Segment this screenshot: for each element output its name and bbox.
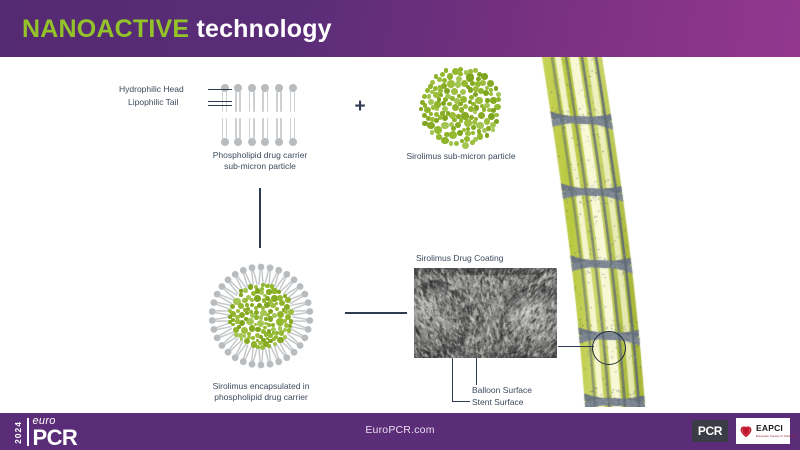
drug-molecule-dot: [260, 345, 265, 350]
title-rest: technology: [189, 15, 331, 43]
drug-molecule-dot: [271, 323, 275, 327]
coated-stent-illustration: [520, 57, 650, 407]
drug-molecule-dot: [239, 289, 243, 293]
drug-molecule-dot: [283, 328, 287, 332]
leader-line-tail-a: [208, 101, 232, 102]
drug-molecule-dot: [430, 117, 434, 121]
drug-molecule-dot: [473, 68, 478, 73]
drug-molecule-dot: [255, 327, 261, 333]
drug-molecule-dot: [420, 100, 425, 105]
drug-molecule-dot: [264, 322, 268, 326]
drug-molecule-dot: [283, 335, 287, 339]
drug-molecule-dot: [243, 288, 247, 292]
drug-molecule-dot: [422, 113, 427, 118]
drug-molecule-dot: [283, 294, 287, 298]
phospholipid-molecule: [246, 84, 257, 146]
drug-molecule-dot: [470, 140, 475, 145]
drug-molecule-dot: [259, 315, 263, 319]
caption-sirolimus-particle: Sirolimus sub-micron particle: [388, 151, 534, 162]
drug-molecule-dot: [263, 326, 267, 330]
drug-molecule-dot: [490, 122, 496, 128]
drug-molecule-dot: [496, 97, 501, 102]
drug-molecule-dot: [429, 112, 433, 116]
phospholipid-molecule: [219, 84, 230, 146]
caption-encapsulated: Sirolimus encapsulated in phospholipid d…: [188, 381, 334, 403]
drug-molecule-dot: [430, 130, 435, 135]
drug-molecule-dot: [288, 324, 292, 328]
drug-molecule-dot: [447, 73, 454, 80]
drug-molecule-dot: [428, 84, 433, 89]
sirolimus-sub-micron-particle: [420, 66, 502, 148]
drug-molecule-dot: [458, 72, 462, 76]
drug-molecule-dot: [459, 107, 465, 113]
drug-molecule-dot: [254, 295, 261, 302]
slide-header-bar: NANOACTIVE technology: [0, 0, 800, 57]
phospholipid-molecule: [273, 84, 284, 146]
footer-url[interactable]: EuroPCR.com: [0, 424, 800, 436]
drug-molecule-dot: [248, 284, 253, 289]
stent-zoom-callout-circle: [592, 331, 626, 365]
drug-molecule-dot: [485, 98, 490, 103]
drug-molecule-dot: [277, 290, 281, 294]
drug-molecule-dot: [489, 88, 493, 92]
drug-molecule-dot: [261, 306, 265, 310]
drug-molecule-dot: [473, 86, 479, 92]
drug-molecule-dot: [267, 344, 271, 348]
drug-molecule-dot: [442, 78, 447, 83]
drug-molecule-dot: [264, 302, 270, 308]
drug-molecule-dot: [475, 97, 483, 105]
connector-horizontal: [345, 312, 407, 314]
drug-molecule-dot: [482, 128, 487, 133]
pcr-badge-logo: PCR: [692, 420, 728, 442]
caption-phospholipid-line1: Phospholipid drug carrier: [190, 150, 330, 161]
drug-molecule-dot: [270, 284, 274, 288]
drug-molecule-dot: [481, 73, 488, 80]
phospholipid-molecule: [287, 84, 298, 146]
drug-molecule-dot: [231, 323, 235, 327]
drug-molecule-dot: [464, 136, 470, 142]
label-sirolimus-drug-coating: Sirolimus Drug Coating: [416, 253, 503, 264]
heart-icon: [739, 424, 753, 438]
drug-molecule-dot: [247, 332, 251, 336]
caption-encapsulated-line2: phospholipid drug carrier: [188, 392, 334, 403]
drug-molecule-dot: [480, 80, 486, 86]
drug-molecule-dot: [237, 325, 241, 329]
drug-molecule-dot: [239, 293, 243, 297]
drug-molecule-dot: [489, 92, 493, 96]
callout-connector-line: [558, 346, 594, 347]
drug-molecule-dot: [441, 122, 449, 130]
drug-molecule-dot: [460, 139, 464, 143]
drug-molecule-dot: [442, 115, 448, 121]
leader-line-balloon-surface: [476, 358, 477, 385]
drug-molecule-dot: [419, 107, 423, 111]
drug-molecule-dot: [484, 103, 490, 109]
slide-nanoactive-technology: NANOACTIVE technology Hydrophilic Head L…: [0, 0, 800, 450]
drug-molecule-dot: [441, 137, 448, 144]
drug-molecule-dot: [466, 85, 470, 89]
drug-molecule-dot: [260, 287, 264, 291]
eapci-name: EAPCI: [756, 424, 798, 433]
drug-molecule-dot: [451, 126, 456, 131]
label-lipophilic-tail: Lipophilic Tail: [128, 97, 178, 108]
drug-molecule-dot: [477, 129, 482, 134]
drug-molecule-dot: [473, 110, 477, 114]
drug-molecule-dot: [273, 342, 277, 346]
drug-molecule-dot: [264, 332, 268, 336]
drug-molecule-dot: [477, 133, 484, 140]
phospholipid-molecule: [233, 84, 244, 146]
connector-vertical: [259, 188, 261, 248]
drug-molecule-dot: [458, 67, 463, 72]
drug-molecule-dot: [440, 72, 445, 77]
drug-molecule-dot: [462, 142, 469, 149]
drug-molecule-dot: [275, 302, 279, 306]
drug-molecule-dot: [279, 300, 285, 306]
drug-molecule-dot: [437, 97, 442, 102]
eapci-subtitle: European Society of Cardiology: [756, 434, 798, 438]
leader-line-head: [208, 89, 232, 90]
drug-molecule-dot: [431, 105, 436, 110]
drug-molecule-dot: [240, 337, 244, 341]
drug-molecule-dot: [255, 333, 260, 338]
drug-molecule-dot: [272, 313, 277, 318]
label-stent-surface: Stent Surface: [472, 397, 524, 408]
drug-molecule-dot: [255, 288, 260, 293]
drug-molecule-dot: [278, 326, 282, 330]
caption-encapsulated-line1: Sirolimus encapsulated in: [188, 381, 334, 392]
drug-molecule-dot: [283, 319, 287, 323]
label-hydrophilic-head: Hydrophilic Head: [119, 84, 184, 95]
drug-molecule-dot: [449, 131, 457, 139]
plus-sign-icon: +: [350, 97, 370, 117]
drug-molecule-dot: [234, 333, 238, 337]
drug-molecule-dot: [272, 337, 276, 341]
drug-molecule-dot: [454, 141, 459, 146]
drug-molecule-dot: [245, 311, 249, 315]
leader-line-tail-b: [208, 105, 232, 106]
leader-line-stent-surface-v: [452, 358, 453, 402]
drug-molecule-dot: [246, 295, 251, 300]
drug-molecule-dot: [455, 81, 461, 87]
drug-molecule-dot: [228, 309, 232, 313]
drug-molecule-dot: [228, 315, 232, 319]
drug-molecule-dot: [471, 125, 476, 130]
caption-phospholipid-carrier: Phospholipid drug carrier sub-micron par…: [190, 150, 330, 172]
drug-molecule-dot: [437, 77, 442, 82]
drug-molecule-dot: [427, 94, 432, 99]
page-title: NANOACTIVE technology: [22, 14, 332, 44]
drug-molecule-dot: [468, 69, 472, 73]
drug-molecule-dot: [266, 289, 271, 294]
sirolimus-core: [228, 283, 294, 349]
drug-molecule-dot: [254, 323, 258, 327]
phospholipid-bilayer-illustration: [219, 84, 301, 146]
drug-molecule-dot: [494, 113, 499, 118]
drug-molecule-dot: [245, 303, 249, 307]
eapci-logo: EAPCI European Society of Cardiology: [736, 418, 790, 444]
drug-molecule-dot: [449, 141, 454, 146]
drug-molecule-dot: [460, 89, 466, 95]
drug-molecule-dot: [471, 131, 476, 136]
drug-molecule-dot: [422, 121, 427, 126]
drug-molecule-dot: [289, 319, 293, 323]
drug-molecule-dot: [438, 88, 442, 92]
drug-molecule-dot: [447, 80, 454, 87]
drug-molecule-dot: [265, 284, 270, 289]
drug-molecule-dot: [491, 128, 495, 132]
drug-molecule-dot: [285, 297, 291, 303]
caption-phospholipid-line2: sub-micron particle: [190, 161, 330, 172]
phospholipid-molecule: [260, 84, 271, 146]
drug-molecule-dot: [446, 111, 450, 115]
drug-molecule-dot: [494, 86, 499, 91]
drug-molecule-dot: [445, 94, 450, 99]
leader-line-stent-surface-h: [452, 401, 470, 402]
drug-molecule-dot: [485, 133, 490, 138]
drug-molecule-dot: [287, 328, 291, 332]
drug-molecule-dot: [235, 319, 239, 323]
drug-molecule-dot: [471, 102, 475, 106]
encapsulated-sirolimus-illustration: [201, 256, 321, 376]
drug-molecule-dot: [244, 317, 248, 321]
drug-molecule-dot: [438, 115, 443, 120]
pcr-badge-text: PCR: [698, 424, 722, 438]
drug-molecule-dot: [458, 102, 463, 107]
drug-molecule-dot: [262, 298, 267, 303]
drug-molecule-dot: [459, 118, 463, 122]
title-highlight: NANOACTIVE: [22, 15, 189, 43]
drug-molecule-dot: [430, 90, 435, 95]
drug-molecule-dot: [438, 85, 442, 89]
drug-molecule-dot: [428, 99, 435, 106]
drug-molecule-dot: [254, 310, 259, 315]
